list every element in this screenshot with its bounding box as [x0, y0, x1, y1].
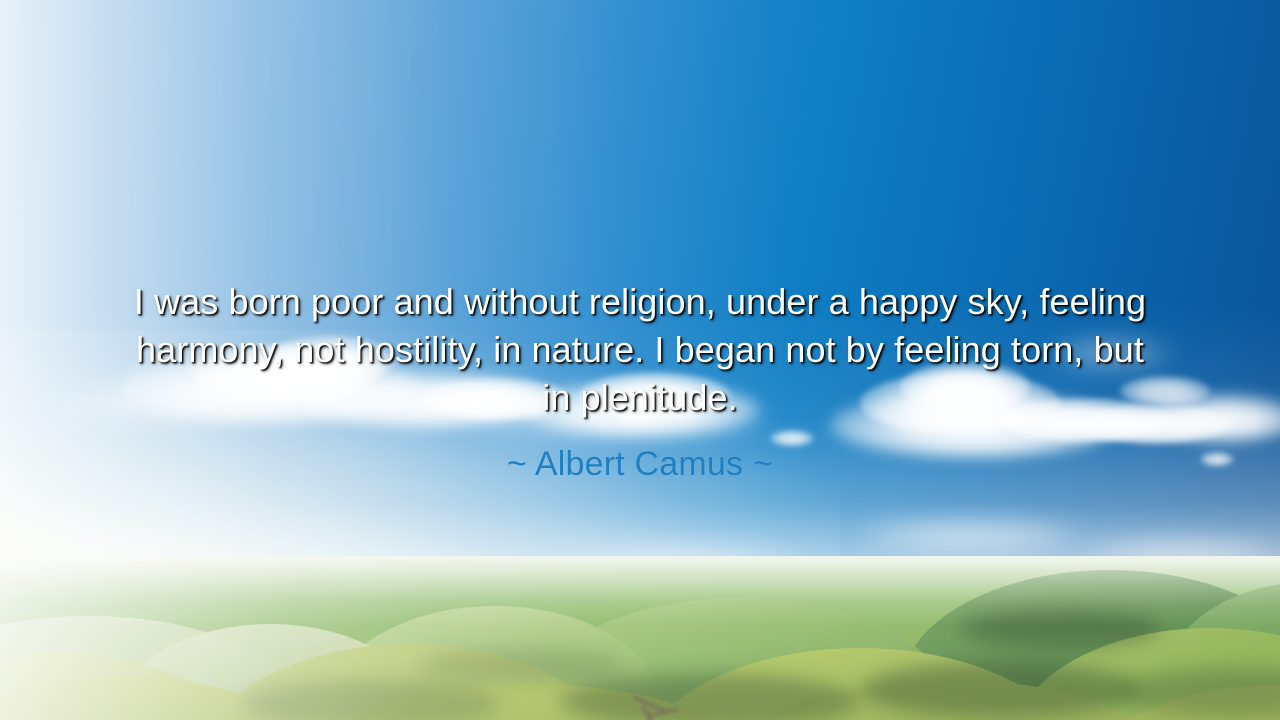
valley-shadow-e	[420, 648, 620, 684]
valley-shadow-f	[960, 608, 1160, 648]
quote-text: I was born poor and without religion, un…	[125, 278, 1155, 422]
valley-shadow-c	[240, 680, 500, 720]
valley-shadow-a	[560, 674, 860, 720]
quote-wallpaper: I was born poor and without religion, un…	[0, 0, 1280, 720]
quote-block: I was born poor and without religion, un…	[125, 278, 1155, 484]
cloud-puff-b	[1200, 452, 1234, 466]
hills-landscape	[0, 556, 1280, 720]
valley-shadow-b	[860, 662, 1140, 718]
quote-attribution: ~ Albert Camus ~	[125, 444, 1155, 484]
cloud-low-a	[860, 520, 1080, 550]
